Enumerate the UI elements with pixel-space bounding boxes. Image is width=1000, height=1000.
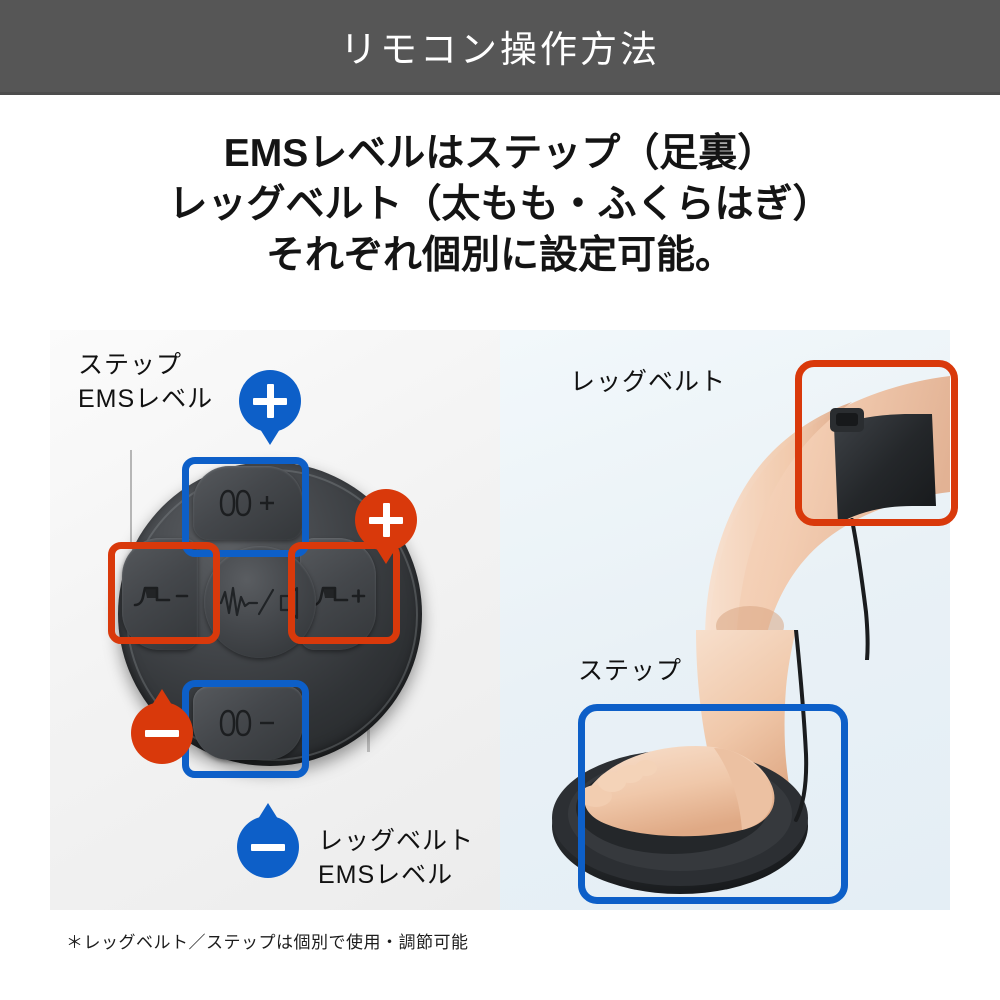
- pin-step-minus: [237, 816, 299, 878]
- pin-leg-plus: [355, 489, 417, 551]
- pin-tail: [260, 429, 280, 445]
- label-step-ems-line1: ステップ: [78, 351, 182, 379]
- headline-line-1: EMSレベルはステップ（足裏）: [0, 128, 1000, 179]
- headline-line-2: レッグベルト（太もも・ふくらはぎ）: [0, 179, 1000, 230]
- label-step-ems-line2: EMSレベル: [78, 385, 213, 413]
- label-leg-ems-level: レッグベルト EMSレベル: [318, 824, 474, 892]
- label-leg-ems-line2: EMSレベル: [318, 861, 453, 889]
- pin-tail: [258, 803, 278, 819]
- highlight-box-leg-belt: [795, 360, 958, 526]
- label-step-photo: ステップ: [578, 654, 682, 688]
- highlight-box-leg-down-button: [108, 542, 220, 644]
- label-leg-ems-line1: レッグベルト: [318, 827, 474, 855]
- footnote-text: ＊レッグベルト／ステップは個別で使用・調節可能: [66, 928, 469, 953]
- figure-area: レッグベルト ステップ ステップ EMSレベル レッグベルト EMSレベル: [50, 330, 950, 910]
- plus-icon-bar-v: [267, 384, 274, 418]
- pin-tail: [152, 689, 172, 705]
- label-step-ems-level: ステップ EMSレベル: [78, 348, 213, 416]
- highlight-box-step-down-button: [182, 680, 309, 778]
- headline-block: EMSレベルはステップ（足裏） レッグベルト（太もも・ふくらはぎ） それぞれ個別…: [0, 128, 1000, 281]
- plus-icon-bar-v: [383, 503, 390, 537]
- minus-icon-bar: [145, 730, 179, 737]
- label-leg-belt: レッグベルト: [570, 365, 726, 399]
- highlight-box-step: [578, 704, 848, 904]
- headline-line-3: それぞれ個別に設定可能。: [0, 230, 1000, 281]
- minus-icon-bar: [251, 844, 285, 851]
- header-bar: リモコン操作方法: [0, 0, 1000, 95]
- pin-step-plus: [239, 370, 301, 432]
- page-title: リモコン操作方法: [340, 19, 660, 73]
- pin-leg-minus: [131, 702, 193, 764]
- pin-tail: [376, 548, 396, 564]
